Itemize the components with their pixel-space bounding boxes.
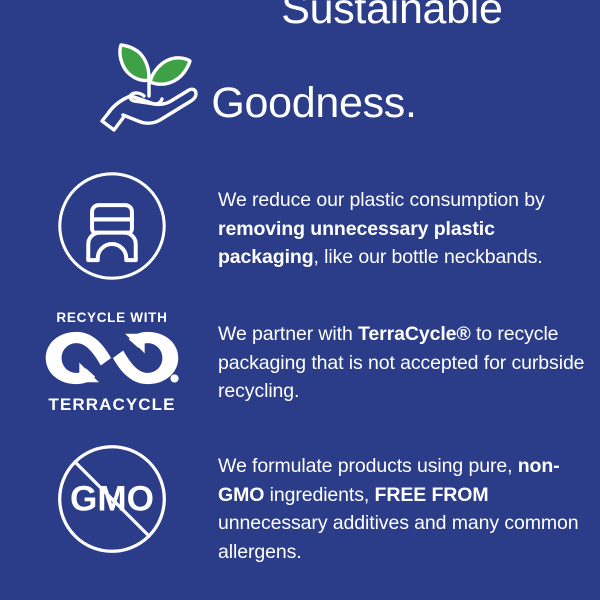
terracycle-logo-bottom-label: TERRACYCLE <box>48 395 175 415</box>
text-seg-bold: TerraCycle® <box>358 323 471 345</box>
text-seg: , like our bottle neckbands. <box>314 246 543 268</box>
feature-row-gmo: GMO We formulate products using pure, no… <box>0 440 600 566</box>
feature-icon-cell: RECYCLE WITH <box>0 306 218 418</box>
page-title-line-2: Goodness. <box>211 80 502 127</box>
terracycle-logo-top-label: RECYCLE WITH <box>56 310 167 325</box>
text-seg: We reduce our plastic consumption by <box>218 189 545 211</box>
no-gmo-icon: GMO <box>54 441 170 562</box>
hand-holding-seedling-icon <box>97 32 201 136</box>
sustainable-goodness-poster: Sustainable Goodness. <box>0 0 600 600</box>
header: Sustainable Goodness. <box>0 22 600 142</box>
gmo-label: GMO <box>70 479 154 518</box>
terracycle-infinity-arrows-icon <box>42 328 182 393</box>
text-seg: We partner with <box>218 323 358 345</box>
feature-icon-cell <box>0 168 218 288</box>
terracycle-logo-icon: RECYCLE WITH <box>32 310 192 415</box>
text-seg-bold: FREE FROM <box>375 484 489 506</box>
feature-row-plastic: We reduce our plastic consumption by rem… <box>0 168 600 288</box>
bottle-no-neckband-icon <box>56 170 168 287</box>
text-seg: We formulate products using pure, <box>218 455 518 477</box>
feature-text-terracycle: We partner with TerraCycle® to recycle p… <box>218 306 600 406</box>
feature-text-plastic: We reduce our plastic consumption by rem… <box>218 168 600 272</box>
text-seg: unnecessary additives and many common al… <box>218 512 579 563</box>
feature-icon-cell: GMO <box>0 440 218 562</box>
feature-text-gmo: We formulate products using pure, non-GM… <box>218 440 600 566</box>
page-title-line-1: Sustainable <box>281 0 502 33</box>
feature-row-terracycle: RECYCLE WITH <box>0 306 600 418</box>
text-seg: ingredients, <box>264 484 374 506</box>
